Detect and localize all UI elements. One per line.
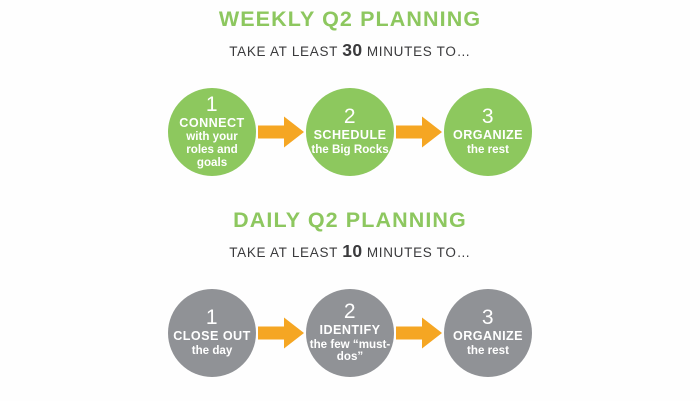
weekly-section-subtitle: TAKE AT LEAST 30 MINUTES TO… [0, 41, 700, 60]
daily-section-title: DAILY Q2 PLANNING [0, 209, 700, 233]
daily-subtitle-minutes: 10 [342, 241, 362, 261]
weekly-subtitle-minutes: 30 [342, 40, 362, 60]
weekly-step-1-number: 1 [206, 94, 218, 115]
daily-step-3-description: the rest [467, 345, 509, 358]
planning-infographic: WEEKLY Q2 PLANNING TAKE AT LEAST 30 MINU… [0, 0, 700, 401]
weekly-step-1-description: with your roles and goals [171, 131, 253, 169]
weekly-step-1[interactable]: 1 CONNECT with your roles and goals [168, 88, 256, 176]
daily-step-2-title: IDENTIFY [320, 324, 381, 338]
daily-step-2-description: the few “must-dos” [309, 339, 391, 365]
weekly-step-2-title: SCHEDULE [314, 129, 387, 143]
weekly-step-3-title: ORGANIZE [453, 129, 523, 143]
arrow-right-icon [396, 115, 442, 149]
section-weekly-header: WEEKLY Q2 PLANNING TAKE AT LEAST 30 MINU… [0, 8, 700, 60]
weekly-step-1-title: CONNECT [179, 117, 244, 131]
daily-step-1-title: CLOSE OUT [173, 330, 251, 344]
daily-step-3-number: 3 [482, 307, 494, 328]
weekly-section-title: WEEKLY Q2 PLANNING [0, 8, 700, 32]
arrow-right-icon [258, 316, 304, 350]
weekly-step-flow: 1 CONNECT with your roles and goals 2 SC… [0, 81, 700, 183]
daily-step-1[interactable]: 1 CLOSE OUT the day [168, 289, 256, 377]
weekly-step-2-number: 2 [344, 106, 356, 127]
weekly-subtitle-prefix: TAKE AT LEAST [229, 44, 342, 59]
weekly-step-3-description: the rest [467, 144, 509, 157]
daily-step-3-title: ORGANIZE [453, 330, 523, 344]
daily-subtitle-prefix: TAKE AT LEAST [229, 245, 342, 260]
daily-step-flow: 1 CLOSE OUT the day 2 IDENTIFY the few “… [0, 282, 700, 384]
weekly-step-3[interactable]: 3 ORGANIZE the rest [444, 88, 532, 176]
daily-step-2-number: 2 [344, 301, 356, 322]
arrow-right-icon [396, 316, 442, 350]
arrow-right-icon [258, 115, 304, 149]
daily-section-subtitle: TAKE AT LEAST 10 MINUTES TO… [0, 242, 700, 261]
weekly-step-3-number: 3 [482, 106, 494, 127]
daily-step-2[interactable]: 2 IDENTIFY the few “must-dos” [306, 289, 394, 377]
weekly-step-2-description: the Big Rocks [311, 144, 388, 157]
section-daily-header: DAILY Q2 PLANNING TAKE AT LEAST 10 MINUT… [0, 209, 700, 261]
daily-step-1-description: the day [192, 345, 233, 358]
weekly-subtitle-suffix: MINUTES TO… [362, 44, 470, 59]
daily-step-1-number: 1 [206, 307, 218, 328]
weekly-step-2[interactable]: 2 SCHEDULE the Big Rocks [306, 88, 394, 176]
daily-step-3[interactable]: 3 ORGANIZE the rest [444, 289, 532, 377]
daily-subtitle-suffix: MINUTES TO… [362, 245, 470, 260]
